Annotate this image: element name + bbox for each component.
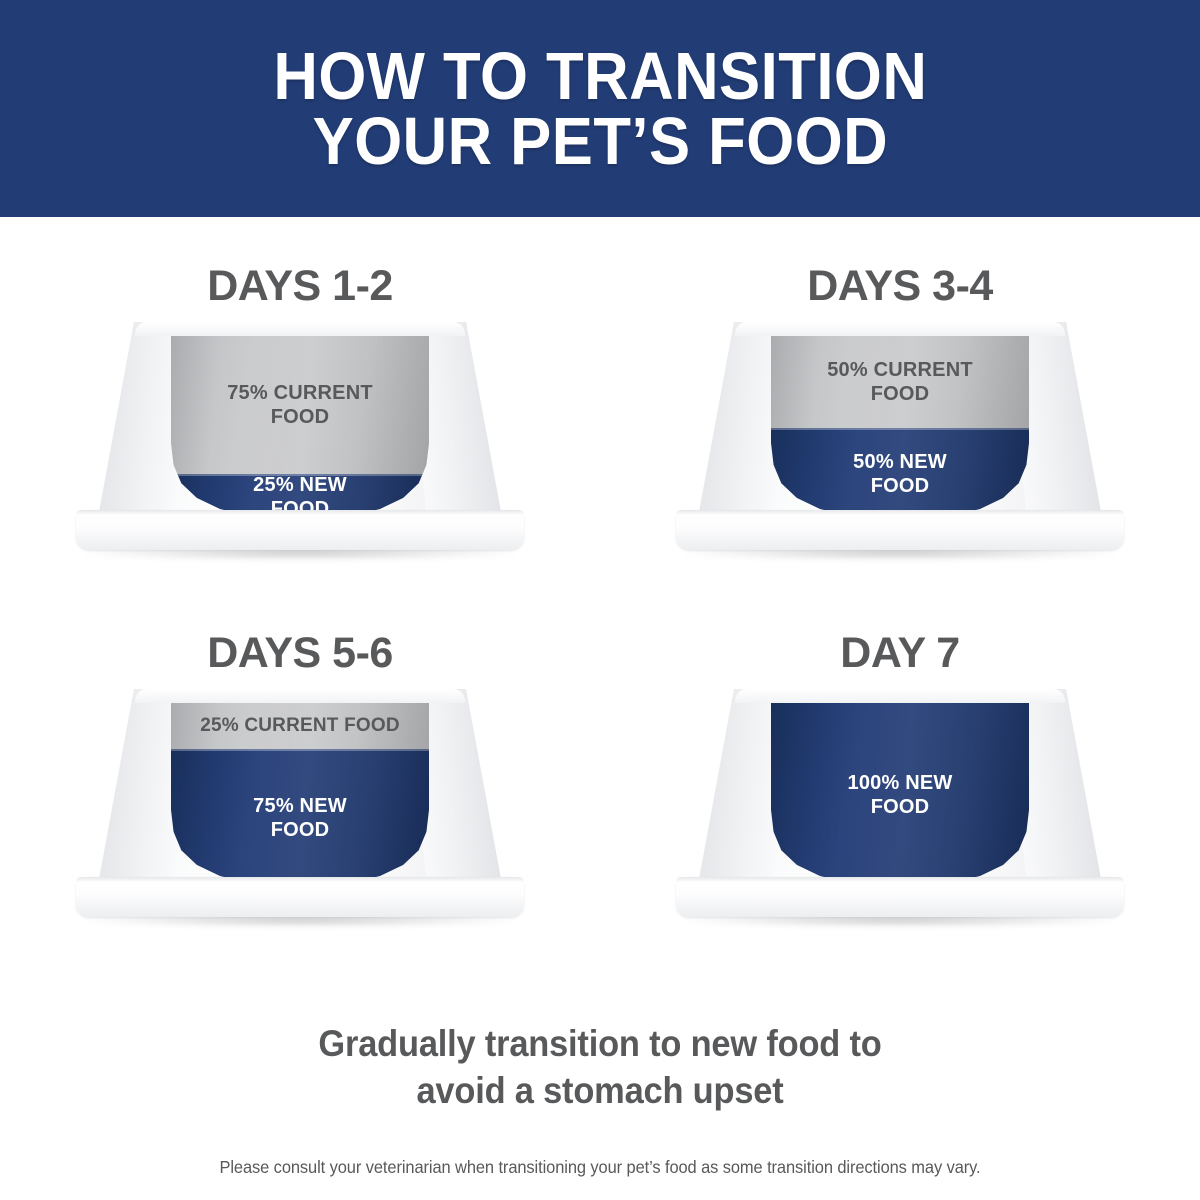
bowl-rim (135, 322, 465, 336)
footer-tagline: Gradually transition to new food to avoi… (42, 1020, 1158, 1115)
bowl-rim (735, 689, 1065, 703)
transition-step-card: DAYS 1-2 75% CURRENT FOOD 25% NEW FOOD (0, 262, 600, 652)
bowl-rim (135, 689, 465, 703)
current-food-label: 75% CURRENT FOOD (171, 382, 429, 429)
current-food-label: 50% CURRENT FOOD (771, 359, 1029, 406)
footer: Gradually transition to new food to avoi… (0, 1020, 1200, 1178)
bowl-base (676, 877, 1124, 917)
transition-step-card: DAYS 3-4 50% CURRENT FOOD 50% NEW FOOD (600, 262, 1200, 652)
transition-steps-grid: DAYS 1-2 75% CURRENT FOOD 25% NEW FOOD D… (0, 217, 1200, 1017)
step-title: DAYS 3-4 (600, 262, 1200, 311)
new-food-label: 50% NEW FOOD (771, 451, 1029, 498)
food-bowl: 25% CURRENT FOOD 75% NEW FOOD (58, 689, 542, 929)
bowl-cavity: 25% CURRENT FOOD 75% NEW FOOD (171, 703, 429, 887)
footer-disclaimer: Please consult your veterinarian when tr… (36, 1157, 1164, 1178)
bowl-base (676, 510, 1124, 550)
page-title: HOW TO TRANSITION YOUR PET’S FOOD (273, 44, 927, 174)
food-bowl: 50% CURRENT FOOD 50% NEW FOOD (658, 322, 1142, 562)
bowl-cavity: 75% CURRENT FOOD 25% NEW FOOD (171, 336, 429, 520)
step-title: DAYS 5-6 (0, 629, 600, 678)
header-banner: HOW TO TRANSITION YOUR PET’S FOOD (0, 0, 1200, 217)
food-bowl: 100% NEW FOOD (658, 689, 1142, 929)
step-title: DAY 7 (600, 629, 1200, 678)
food-bowl: 75% CURRENT FOOD 25% NEW FOOD (58, 322, 542, 562)
bowl-rim (735, 322, 1065, 336)
bowl-base (76, 877, 524, 917)
new-food-label: 100% NEW FOOD (771, 772, 1029, 819)
step-title: DAYS 1-2 (0, 262, 600, 311)
new-food-label: 75% NEW FOOD (171, 795, 429, 842)
bowl-cavity: 100% NEW FOOD (771, 703, 1029, 887)
bowl-cavity: 50% CURRENT FOOD 50% NEW FOOD (771, 336, 1029, 520)
fill-divider (771, 428, 1029, 430)
transition-step-card: DAY 7 100% NEW FOOD (600, 629, 1200, 1019)
current-food-label: 25% CURRENT FOOD (171, 715, 429, 737)
fill-divider (171, 749, 429, 751)
bowl-base (76, 510, 524, 550)
transition-step-card: DAYS 5-6 25% CURRENT FOOD 75% NEW FOOD (0, 629, 600, 1019)
